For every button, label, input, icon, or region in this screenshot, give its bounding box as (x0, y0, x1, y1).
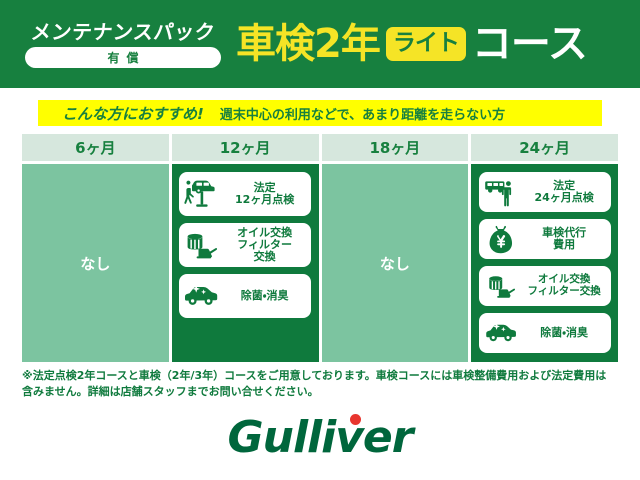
none-label-18months: なし (380, 253, 410, 274)
advertisement-page: メンテナンスパック 有償 車検2年 ライト コース こんな方におすすめ! 週末中… (0, 0, 640, 480)
recommend-description: 週末中心の利用などで、あまり距離を走らない方 (220, 104, 505, 123)
service-card-label: 法定 24ヶ月点検 (522, 180, 607, 205)
header-band: メンテナンスパック 有償 車検2年 ライト コース (0, 0, 640, 88)
headline-shaken-2year: 車検2年 (236, 24, 380, 64)
maintenance-schedule-table: 6ヶ月 12ヶ月 18ヶ月 24ヶ月 なし (22, 134, 618, 362)
service-card-legal-24month-inspection: 法定 24ヶ月点検 (479, 172, 611, 212)
table-header-12months: 12ヶ月 (172, 134, 319, 161)
service-label-line2: 12ヶ月点検 (222, 194, 307, 206)
headline-block: 車検2年 ライト コース (236, 24, 640, 64)
table-body-row: なし (22, 164, 618, 362)
recommend-banner: こんな方におすすめ! 週末中心の利用などで、あまり距離を走らない方 (38, 100, 602, 126)
service-card-oil-filter-change: オイル交換 フィルター 交換 (179, 223, 311, 267)
table-header-row: 6ヶ月 12ヶ月 18ヶ月 24ヶ月 (22, 134, 618, 161)
oil-can-filter-icon (183, 228, 219, 262)
service-label-line3: 交換 (222, 251, 307, 263)
service-card-label: 除菌・消臭 (522, 327, 607, 339)
paid-badge-label: 有償 (100, 49, 145, 66)
brand-logo: Gulliver (0, 412, 640, 464)
lite-badge: ライト (386, 27, 466, 61)
column-12months: 法定 12ヶ月点検 (172, 164, 319, 362)
service-card-sanitize-deodorize: 除菌・消臭 (179, 274, 311, 318)
service-label-line1: 除菌・消臭 (222, 290, 307, 302)
service-card-label: 車検代行 費用 (522, 227, 607, 252)
service-card-label: 法定 12ヶ月点検 (222, 182, 307, 207)
table-header-18months: 18ヶ月 (322, 134, 469, 161)
service-label-line2: 24ヶ月点検 (522, 192, 607, 204)
service-label-line2: フィルター交換 (522, 286, 607, 298)
footnote: ※法定点検2年コースと車検（2年/3年）コースをご用意しております。車検コースに… (22, 368, 622, 400)
footnote-line-1: ※法定点検2年コースと車検（2年/3年）コースをご用意しております。車検コースに… (22, 368, 622, 384)
service-label-line2: 費用 (522, 239, 607, 251)
footnote-line-2: 含みません。詳細は店舗スタッフまでお問い合せください。 (22, 384, 622, 400)
column-24months: 法定 24ヶ月点検 車検代行 (471, 164, 618, 362)
service-card-oil-filter-change: オイル交換 フィルター交換 (479, 266, 611, 306)
column-6months: なし (22, 164, 169, 362)
table-header-24months: 24ヶ月 (471, 134, 618, 161)
service-card-label: オイル交換 フィルター交換 (522, 274, 607, 298)
car-inspection-icon (483, 175, 519, 209)
paid-badge: 有償 (25, 47, 221, 68)
service-card-label: 除菌・消臭 (222, 290, 307, 302)
headline-course: コース (472, 24, 587, 64)
gulliver-wordmark: Gulliver (228, 416, 413, 460)
column-18months: なし (322, 164, 469, 362)
service-label-line1: 除菌・消臭 (522, 327, 607, 339)
service-card-legal-12month-inspection: 法定 12ヶ月点検 (179, 172, 311, 216)
service-card-sanitize-deodorize: 除菌・消臭 (479, 313, 611, 353)
table-header-6months: 6ヶ月 (22, 134, 169, 161)
none-label-6months: なし (80, 253, 110, 274)
maintenance-pack-block: メンテナンスパック 有償 (14, 21, 232, 68)
gulliver-logo-text: Gulliver (228, 412, 413, 463)
car-sparkle-icon (183, 279, 219, 313)
money-bag-yen-icon (483, 222, 519, 256)
car-on-lift-icon (183, 177, 219, 211)
service-label-line1: オイル交換 (222, 227, 307, 239)
logo-red-dot-icon (350, 414, 361, 425)
oil-can-filter-icon (483, 269, 519, 303)
recommend-heading: こんな方におすすめ! (62, 103, 204, 124)
car-sparkle-icon (483, 316, 519, 350)
service-card-inspection-agency-fee: 車検代行 費用 (479, 219, 611, 259)
service-card-label: オイル交換 フィルター 交換 (222, 227, 307, 264)
maintenance-pack-title: メンテナンスパック (30, 21, 216, 43)
